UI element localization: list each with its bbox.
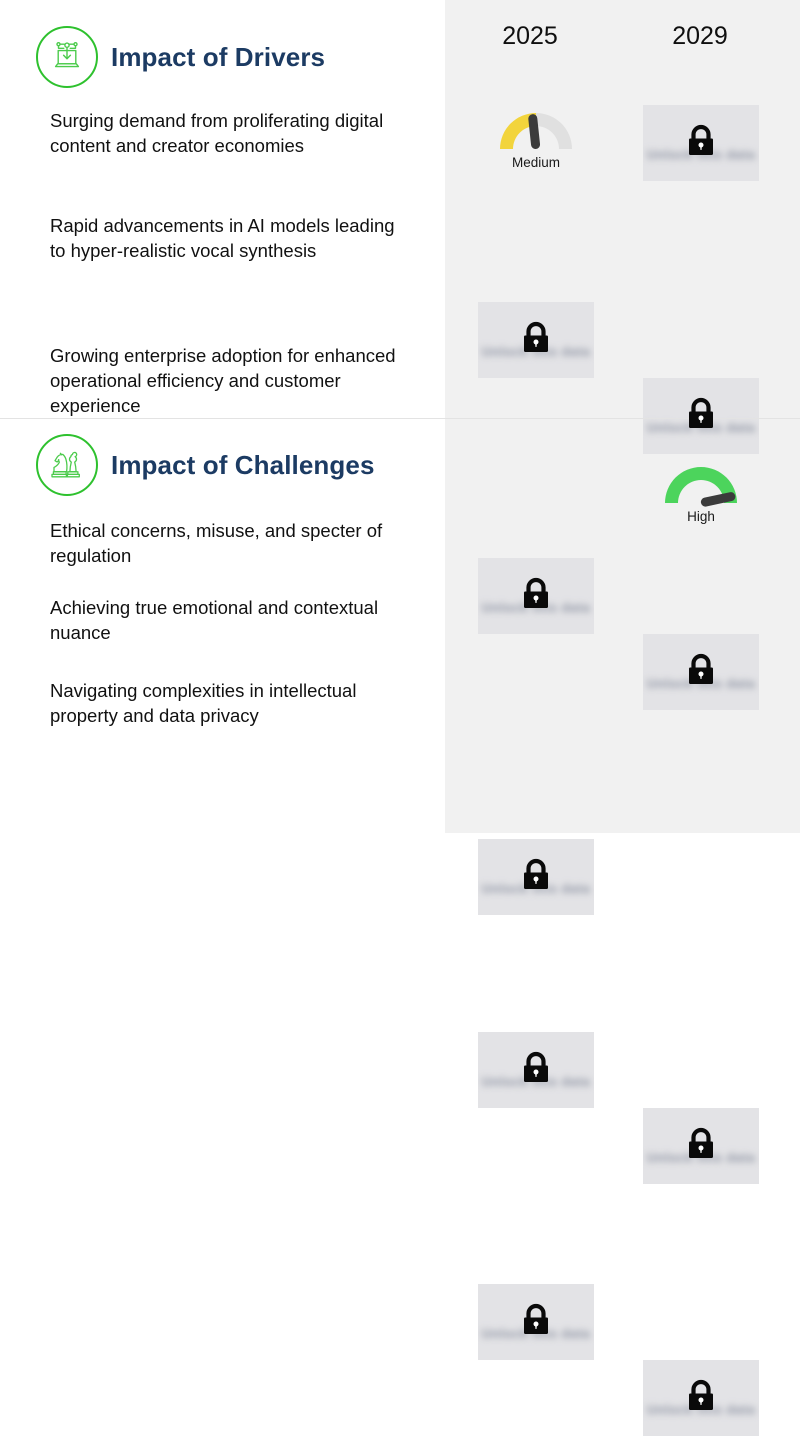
section-divider	[0, 418, 800, 419]
gauge-high-icon	[660, 459, 742, 507]
column-header-2025: 2025	[470, 22, 590, 51]
lock-icon	[684, 396, 718, 437]
gauge-label-challenges-1-2029: High	[687, 509, 715, 524]
lock-icon	[519, 320, 553, 361]
locked-cell-challenges-2-2025[interactable]: Unlock this data	[478, 1032, 594, 1108]
driver-row-text-3: Growing enterprise adoption for enhanced…	[50, 343, 410, 418]
gauge-cell-challenges-1-2029[interactable]: High	[643, 459, 759, 535]
gauge-label-drivers-1-2025: Medium	[512, 155, 560, 170]
locked-cell-drivers-2-2025[interactable]: Unlock this data	[478, 302, 594, 378]
gauge-medium-icon	[495, 105, 577, 153]
driver-row-text-2: Rapid advancements in AI models leading …	[50, 213, 410, 263]
gauge-cell-drivers-1-2025[interactable]: Medium	[478, 105, 594, 181]
locked-cell-challenges-3-2025[interactable]: Unlock this data	[478, 1284, 594, 1360]
lock-icon	[684, 123, 718, 164]
locked-cell-drivers-1-2029[interactable]: Unlock this data	[643, 105, 759, 181]
driver-row-text-1: Surging demand from proliferating digita…	[50, 108, 410, 158]
locked-cell-drivers-3-2025[interactable]: Unlock this data	[478, 558, 594, 634]
section-title-challenges: Impact of Challenges	[111, 450, 375, 481]
locked-cell-drivers-2-2029[interactable]: Unlock this data	[643, 378, 759, 454]
locked-cell-challenges-1-2025[interactable]: Unlock this data	[478, 839, 594, 915]
lock-icon	[684, 652, 718, 693]
lock-icon	[519, 1302, 553, 1343]
laptop-network-download-icon	[36, 26, 98, 88]
chess-pieces-icon	[36, 434, 98, 496]
lock-icon	[519, 576, 553, 617]
challenge-row-text-3: Navigating complexities in intellectual …	[50, 678, 410, 728]
challenge-row-text-2: Achieving true emotional and contextual …	[50, 595, 410, 645]
section-header-drivers: Impact of Drivers	[36, 26, 325, 88]
section-header-challenges: Impact of Challenges	[36, 434, 375, 496]
lock-icon	[519, 1050, 553, 1091]
lock-icon	[519, 857, 553, 898]
lock-icon	[684, 1126, 718, 1167]
lock-icon	[684, 1378, 718, 1419]
locked-cell-challenges-3-2029[interactable]: Unlock this data	[643, 1360, 759, 1436]
challenge-row-text-1: Ethical concerns, misuse, and specter of…	[50, 518, 410, 568]
column-header-2029: 2029	[640, 22, 760, 51]
section-title-drivers: Impact of Drivers	[111, 42, 325, 73]
locked-cell-challenges-2-2029[interactable]: Unlock this data	[643, 1108, 759, 1184]
locked-cell-drivers-3-2029[interactable]: Unlock this data	[643, 634, 759, 710]
